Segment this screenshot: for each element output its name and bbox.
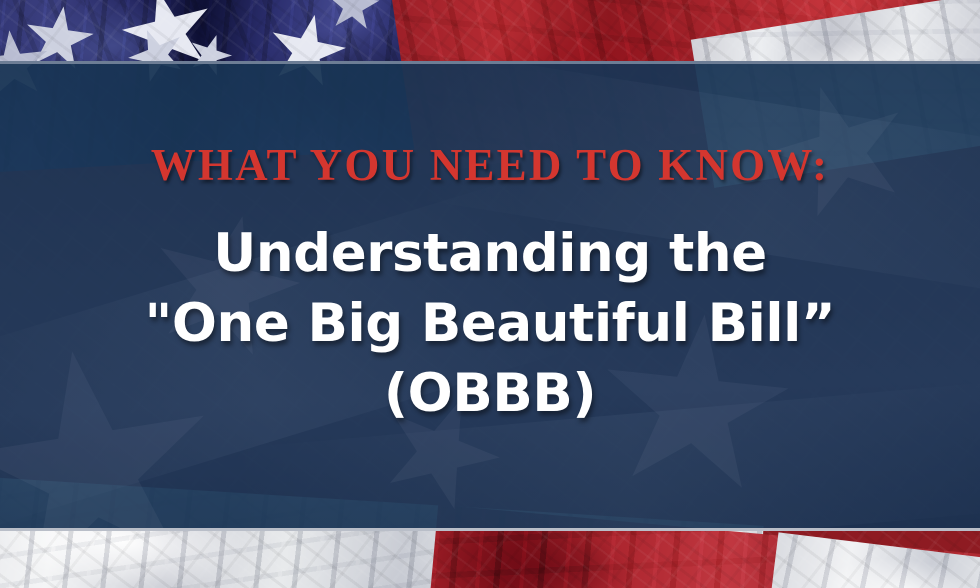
obbb-announcement-banner: WHAT YOU NEED TO KNOW: Understanding the… — [0, 0, 980, 588]
headline-line-1: Understanding the — [145, 219, 836, 289]
navy-overlay-panel: WHAT YOU NEED TO KNOW: Understanding the… — [0, 61, 980, 531]
headline-line-3: (OBBB) — [145, 359, 836, 429]
headline-line-2: "One Big Beautiful Bill” — [145, 289, 836, 359]
kicker-heading: WHAT YOU NEED TO KNOW: — [151, 143, 830, 188]
main-headline: Understanding the "One Big Beautiful Bil… — [145, 219, 836, 429]
